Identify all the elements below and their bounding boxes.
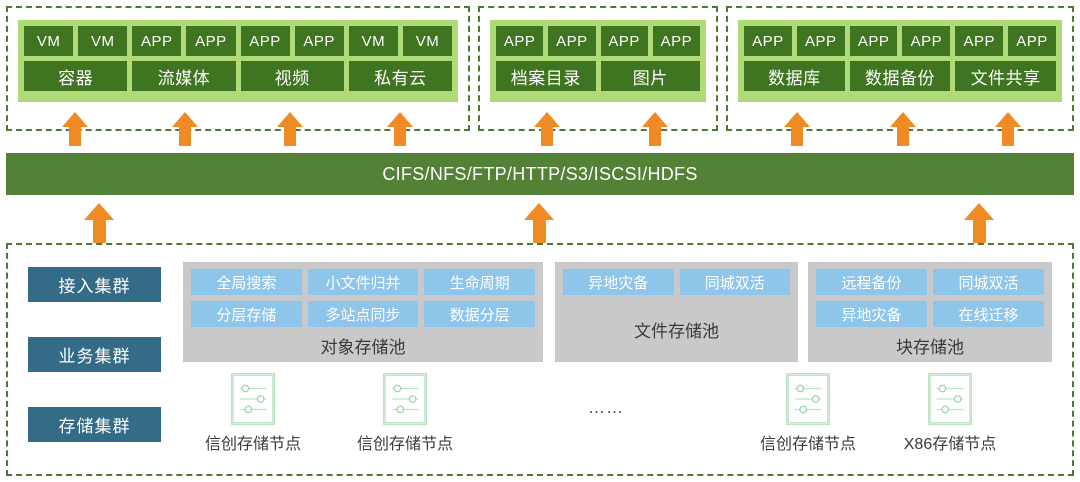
uplink-arrow [387,112,413,146]
pool-feature-row: 异地灾备 同城双活 [563,269,790,295]
object-storage-pool: 全局搜索 小文件归并 生命周期 分层存储 多站点同步 数据分层 对象存储池 [183,262,543,362]
uplink-arrow [784,112,810,146]
cluster-label-storage: 存储集群 [28,407,161,442]
app-box[interactable]: APP [132,26,181,56]
pool-feature[interactable]: 分层存储 [191,301,302,327]
workload-box[interactable]: 数据备份 [850,61,951,91]
pool-feature[interactable]: 异地灾备 [563,269,674,295]
app-box[interactable]: APP [241,26,290,56]
storage-node-label: X86存储节点 [904,430,996,454]
virtualization-group: VM VM APP APP APP APP VM VM 容器 流媒体 视频 私有… [18,20,458,102]
workload-row: 数据库 数据备份 文件共享 [744,61,1056,91]
pool-feature-row: 全局搜索 小文件归并 生命周期 [191,269,535,295]
downlink-arrow [524,203,554,243]
app-box[interactable]: VM [349,26,398,56]
data-services-group: APP APP APP APP APP APP 数据库 数据备份 文件共享 [738,20,1062,102]
uplink-arrow [277,112,303,146]
app-row: APP APP APP APP [496,26,700,56]
app-box[interactable]: VM [24,26,73,56]
workload-row: 档案目录 图片 [496,61,700,91]
pool-title: 对象存储池 [191,333,535,358]
pool-title: 文件存储池 [563,301,790,358]
nodes-ellipsis: …… [588,398,624,418]
cluster-label-service: 业务集群 [28,337,161,372]
app-box[interactable]: APP [653,26,700,56]
storage-node-icon [786,373,830,425]
app-box[interactable]: APP [850,26,898,56]
uplink-arrow [642,112,668,146]
pool-feature[interactable]: 在线迁移 [933,301,1044,327]
storage-node-icon [928,373,972,425]
protocol-bar-label: CIFS/NFS/FTP/HTTP/S3/ISCSI/HDFS [382,164,697,185]
workload-box[interactable]: 档案目录 [496,61,596,91]
uplink-arrow [890,112,916,146]
workload-box[interactable]: 数据库 [744,61,845,91]
workload-box[interactable]: 图片 [601,61,701,91]
downlink-arrow [964,203,994,243]
app-box[interactable]: APP [797,26,845,56]
app-row: APP APP APP APP APP APP [744,26,1056,56]
pool-title: 块存储池 [816,333,1044,358]
storage-node-label: 信创存储节点 [357,430,453,454]
storage-node-icon [231,373,275,425]
pool-feature[interactable]: 异地灾备 [816,301,927,327]
protocol-bar: CIFS/NFS/FTP/HTTP/S3/ISCSI/HDFS [6,153,1074,195]
pool-feature[interactable]: 全局搜索 [191,269,302,295]
vm-app-row: VM VM APP APP APP APP VM VM [24,26,452,56]
storage-node[interactable]: 信创存储节点 [193,373,313,454]
cluster-label-text: 存储集群 [59,412,131,437]
archive-group: APP APP APP APP 档案目录 图片 [490,20,706,102]
uplink-arrow [172,112,198,146]
workload-box[interactable]: 文件共享 [955,61,1056,91]
workload-box[interactable]: 视频 [241,61,344,91]
architecture-diagram: VM VM APP APP APP APP VM VM 容器 流媒体 视频 私有… [0,0,1080,482]
pool-feature[interactable]: 生命周期 [424,269,535,295]
workload-box[interactable]: 私有云 [349,61,452,91]
pool-feature[interactable]: 同城双活 [933,269,1044,295]
storage-node[interactable]: 信创存储节点 [345,373,465,454]
app-box[interactable]: APP [744,26,792,56]
pool-feature[interactable]: 同城双活 [680,269,791,295]
uplink-arrow [534,112,560,146]
cluster-label-text: 接入集群 [59,272,131,297]
workload-row: 容器 流媒体 视频 私有云 [24,61,452,91]
app-box[interactable]: APP [1008,26,1056,56]
app-box[interactable]: APP [548,26,595,56]
cluster-label-access: 接入集群 [28,267,161,302]
storage-node-label: 信创存储节点 [760,430,856,454]
storage-node-label: 信创存储节点 [205,430,301,454]
app-box[interactable]: VM [78,26,127,56]
pool-feature-row: 异地灾备 在线迁移 [816,301,1044,327]
storage-node[interactable]: X86存储节点 [890,373,1010,454]
app-box[interactable]: APP [955,26,1003,56]
uplink-arrow [995,112,1021,146]
pool-feature[interactable]: 多站点同步 [308,301,419,327]
app-box[interactable]: APP [496,26,543,56]
workload-box[interactable]: 容器 [24,61,127,91]
storage-node-icon [383,373,427,425]
downlink-arrow [84,203,114,243]
app-box[interactable]: VM [403,26,452,56]
pool-feature[interactable]: 远程备份 [816,269,927,295]
pool-feature-row: 分层存储 多站点同步 数据分层 [191,301,535,327]
app-box[interactable]: APP [186,26,235,56]
pool-feature-row: 远程备份 同城双活 [816,269,1044,295]
block-storage-pool: 远程备份 同城双活 异地灾备 在线迁移 块存储池 [808,262,1052,362]
workload-box[interactable]: 流媒体 [132,61,235,91]
file-storage-pool: 异地灾备 同城双活 文件存储池 [555,262,798,362]
app-box[interactable]: APP [902,26,950,56]
uplink-arrow [62,112,88,146]
app-box[interactable]: APP [601,26,648,56]
app-box[interactable]: APP [295,26,344,56]
storage-node[interactable]: 信创存储节点 [748,373,868,454]
cluster-label-text: 业务集群 [59,342,131,367]
pool-feature[interactable]: 小文件归并 [308,269,419,295]
pool-feature[interactable]: 数据分层 [424,301,535,327]
